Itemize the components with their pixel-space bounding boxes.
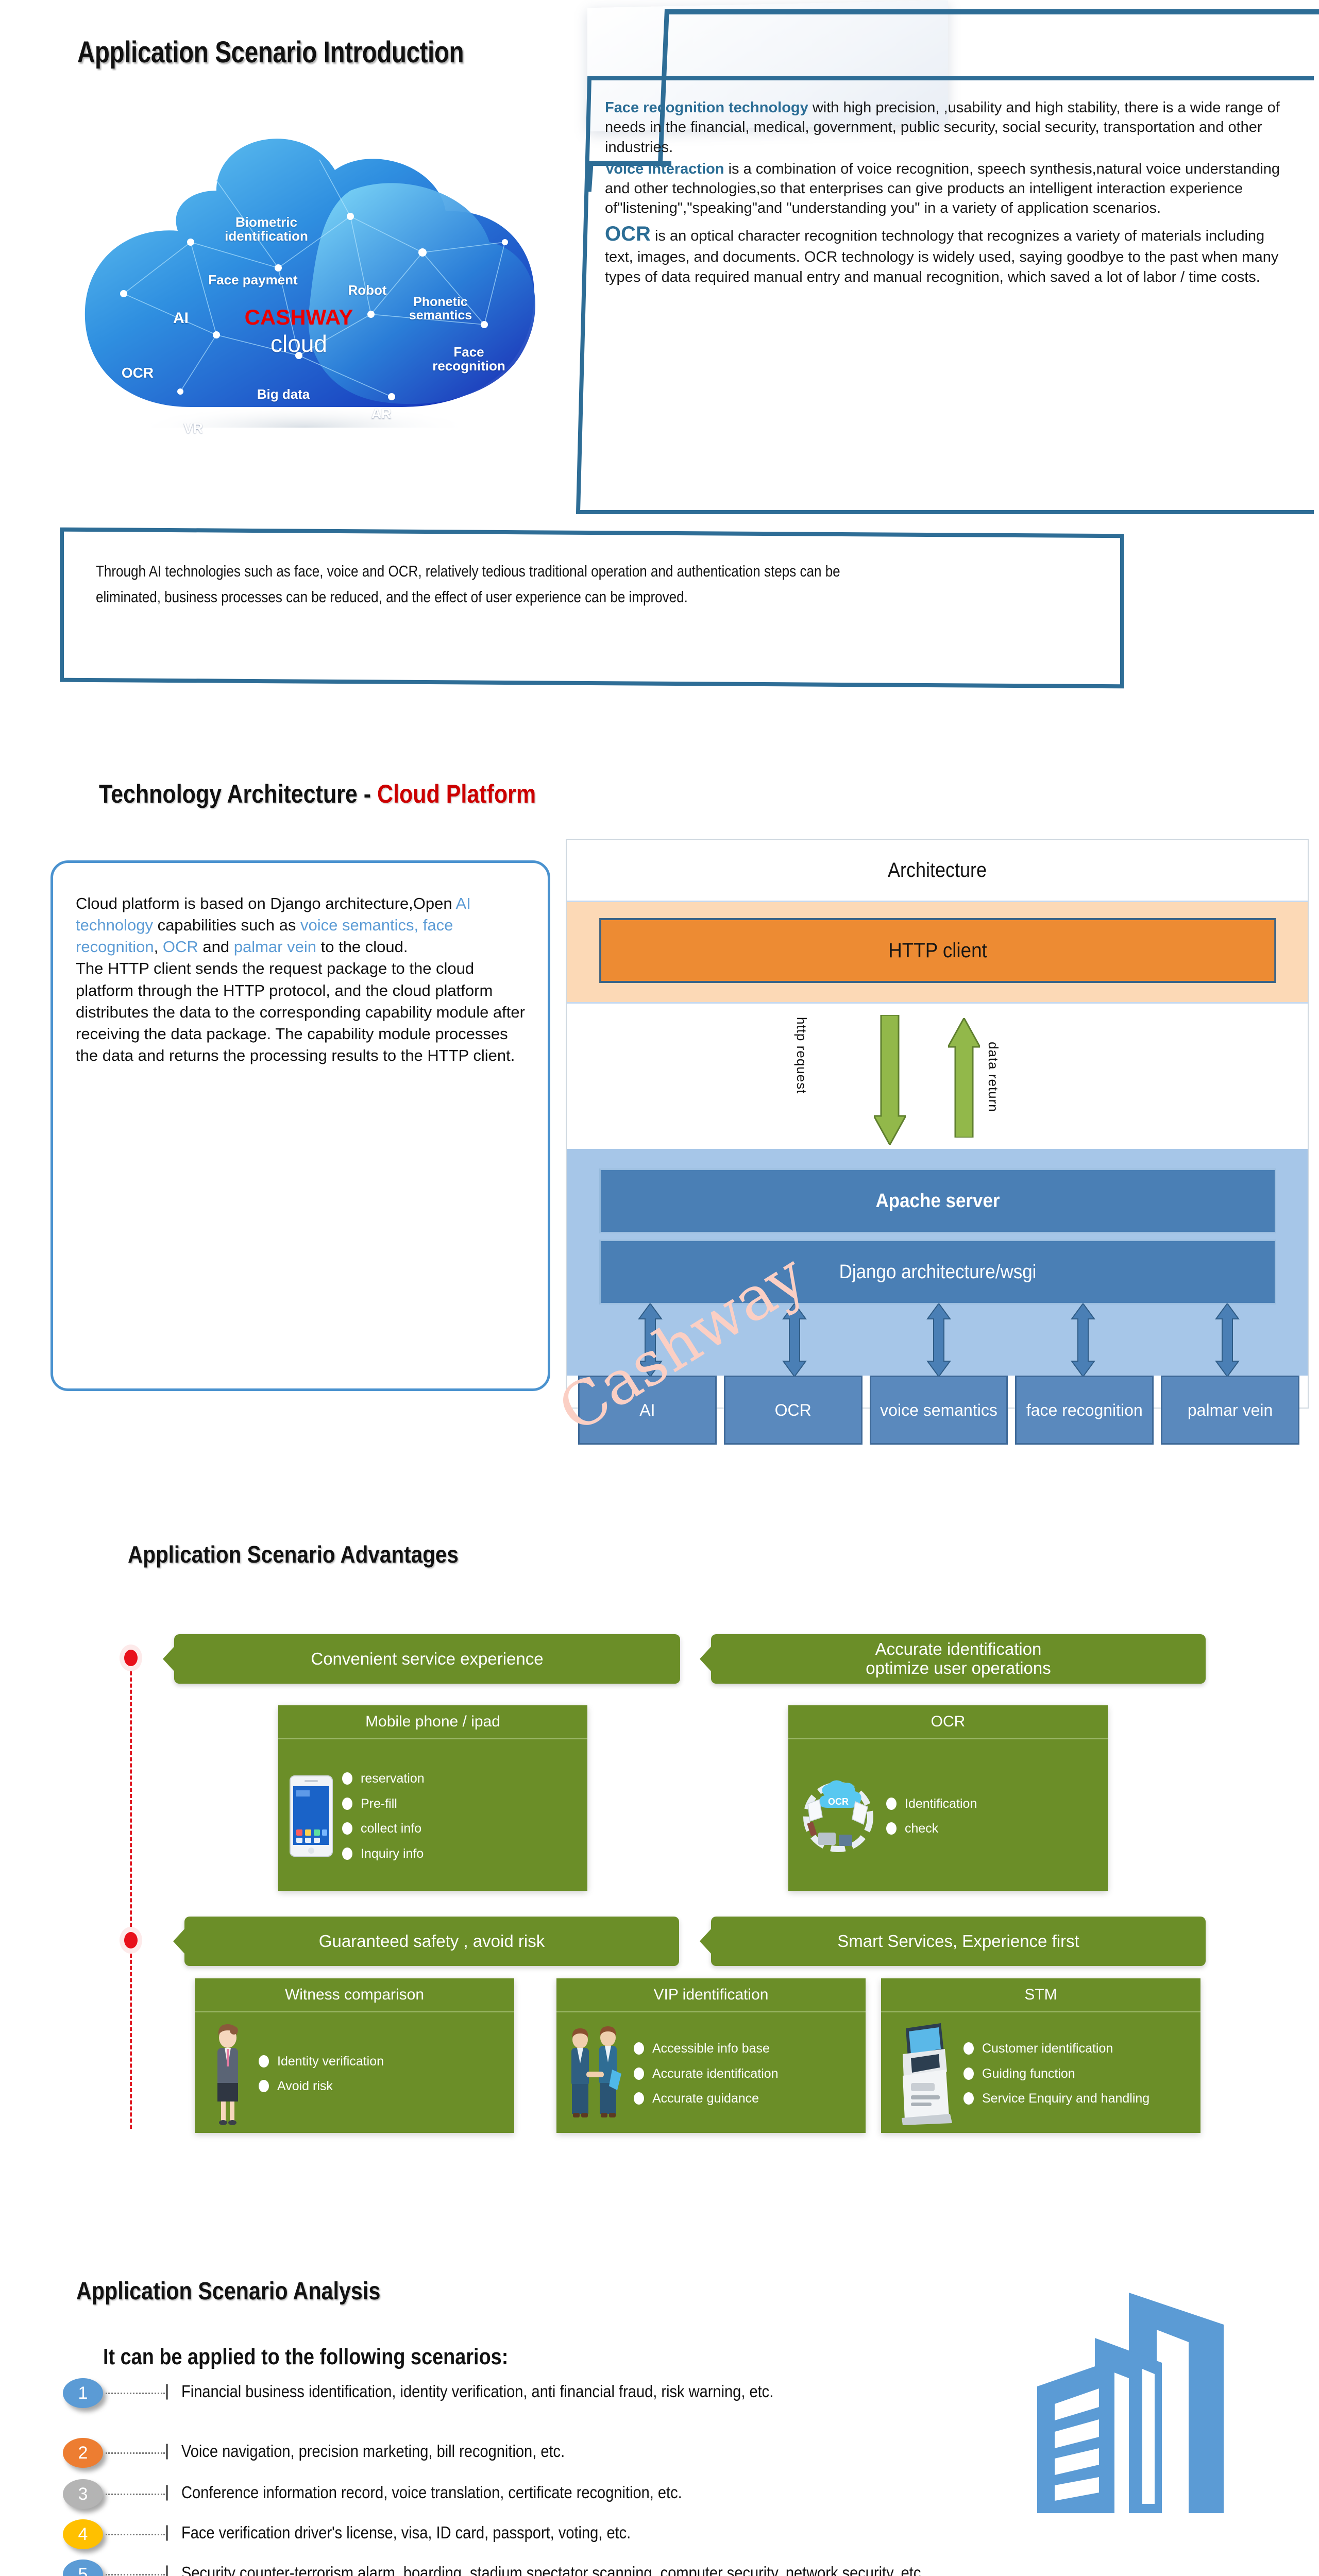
scenario-text-5: Security counter-terrorism alarm, boardi… [181, 2562, 1043, 2576]
timeline-dot-bottom [120, 1927, 142, 1954]
timeline-dot-inner [124, 1932, 138, 1948]
card-heading-vip-identification: VIP identification [556, 1978, 866, 2012]
arch-p1-b: capabilities such as [153, 916, 300, 934]
person-icon [201, 2021, 255, 2127]
arch-p1-a: Cloud platform is based on Django archit… [76, 894, 456, 912]
list-item-label: Guiding function [982, 2066, 1075, 2081]
bi-arrow-slot [1155, 1303, 1299, 1377]
handshake-icon [563, 2021, 630, 2127]
list-item: reservation [342, 1771, 581, 1786]
architecture-description-box: Cloud platform is based on Django archit… [50, 860, 550, 1391]
list-item-label: Pre-fill [361, 1797, 397, 1811]
diagram-apache-server-block: Apache server [599, 1168, 1276, 1233]
list-item: Guiding function [963, 2066, 1194, 2081]
list-item-label: check [905, 1821, 938, 1836]
scenario-text-1: Financial business identification, ident… [181, 2380, 1043, 2403]
intro-text-panel: Face recognition technology with high pr… [576, 76, 1314, 514]
architecture-paragraph-2: The HTTP client sends the request packag… [76, 958, 527, 1066]
analysis-subtitle: It can be applied to the following scena… [103, 2344, 508, 2370]
page-title: Application Scenario Introduction [77, 35, 464, 70]
decorative-line-top [665, 9, 1319, 14]
arch-highlight-ocr: OCR [163, 938, 198, 956]
diagram-label-http-request: http request [793, 1017, 809, 1094]
scenario-bullet-glyph: | [165, 2563, 169, 2576]
scenario-bullet-glyph: | [165, 2381, 169, 2400]
card-list-mobile-phone-ipad: reservation Pre-fill collect info Inquir… [338, 1748, 581, 1885]
advantage-banner-convenient-service: Convenient service experience [174, 1634, 680, 1684]
advantages-title: Application Scenario Advantages [128, 1540, 459, 1568]
cashway-cloud-graphic: Biometric identification Face payment Ro… [62, 88, 556, 428]
list-item-label: collect info [361, 1821, 421, 1836]
list-item: check [886, 1821, 1102, 1836]
analysis-title: Application Scenario Analysis [76, 2277, 380, 2306]
list-item: Pre-fill [342, 1797, 581, 1811]
arch-p1-c: , [154, 938, 163, 956]
bidirectional-arrow-icon [923, 1303, 954, 1377]
list-item-label: Accessible info base [652, 2041, 770, 2056]
bullet-icon [963, 2067, 974, 2080]
intro-head-face-recognition: Face recognition technology [605, 99, 808, 116]
scenario-connector-dash [106, 2574, 165, 2575]
scenario-number-badge: 4 [63, 2519, 103, 2549]
bidirectional-arrow-icon [1212, 1303, 1243, 1377]
intro-summary-callout: Through AI technologies such as face, vo… [56, 531, 1128, 691]
bi-arrow-slot [1011, 1303, 1155, 1377]
stm-kiosk-graphic [887, 2022, 959, 2125]
architecture-paragraph-1: Cloud platform is based on Django archit… [76, 893, 527, 958]
architecture-title: Technology Architecture - Cloud Platform [99, 779, 536, 809]
bullet-icon [342, 1822, 352, 1835]
advantage-card-witness-comparison: Witness comparison Identity [195, 1978, 514, 2133]
intro-body-ocr: is an optical character recognition tech… [605, 228, 1278, 285]
timeline-dot-top [120, 1645, 142, 1671]
card-body: OCR Identification check [788, 1739, 1108, 1891]
card-body: Customer identification Guiding function… [881, 2012, 1200, 2133]
timeline-dashed-line-lower [130, 1954, 132, 2129]
card-list-vip-identification: Accessible info base Accurate identifica… [630, 2021, 859, 2127]
intro-paragraph-ocr: OCR is an optical character recognition … [605, 221, 1295, 287]
bullet-icon [634, 2042, 644, 2055]
card-heading-stm: STM [881, 1978, 1200, 2012]
diagram-module-palmar-vein: palmar vein [1161, 1376, 1299, 1445]
diagram-http-client-block: HTTP client [599, 918, 1276, 983]
application-scenario-analysis-section: Application Scenario Analysis It can be … [0, 2257, 1319, 2576]
intro-head-voice-interaction: Voice interaction [605, 161, 724, 177]
cloud-shape-icon [62, 88, 556, 428]
smartphone-graphic [289, 1775, 333, 1857]
architecture-title-separator: - [358, 779, 377, 808]
diagram-module-ocr: OCR [724, 1376, 863, 1445]
intro-paragraph-face-recognition: Face recognition technology with high pr… [605, 98, 1295, 157]
arch-highlight-voice-semantics: voice semantics, [300, 916, 418, 934]
list-item-label: Identity verification [277, 2054, 384, 2069]
timeline-dashed-line-upper [130, 1671, 132, 1927]
ocr-cloud-graphic: OCR [794, 1775, 882, 1857]
arch-p1-d: and [198, 938, 234, 956]
timeline-dot-inner [124, 1650, 138, 1666]
intro-paragraph-voice-interaction: Voice interaction is a combination of vo… [605, 159, 1295, 218]
diagram-module-voice-semantics: voice semantics [870, 1376, 1008, 1445]
list-item: Accurate guidance [634, 2091, 859, 2106]
arrow-up-icon [948, 1018, 980, 1138]
bullet-icon [342, 1848, 352, 1860]
arrow-down-icon [874, 1015, 906, 1145]
scenario-bullet-glyph: | [165, 2522, 169, 2541]
list-item-label: Accurate identification [652, 2066, 779, 2081]
list-item-label: reservation [361, 1771, 425, 1786]
bullet-icon [342, 1772, 352, 1785]
intro-head-ocr: OCR [605, 223, 651, 245]
scenario-bullet-glyph: | [165, 2482, 169, 2501]
advantage-banner-accurate-identification: Accurate identification optimize user op… [711, 1634, 1206, 1684]
bidirectional-arrow-icon [1068, 1303, 1098, 1377]
list-item: Identity verification [259, 2054, 508, 2069]
diagram-heading: Architecture [604, 840, 1271, 901]
ocr-cloud-icon: OCR [794, 1748, 882, 1885]
architecture-title-highlight: Cloud Platform [377, 779, 536, 808]
list-item: Inquiry info [342, 1846, 581, 1861]
scenario-connector-dash [106, 2534, 165, 2535]
bullet-icon [634, 2092, 644, 2105]
diagram-label-data-return: data return [985, 1042, 1001, 1112]
kiosk-icon [887, 2021, 959, 2127]
list-item: Avoid risk [259, 2079, 508, 2094]
callout-text: Through AI technologies such as face, vo… [96, 558, 901, 610]
scenario-connector-dash [106, 2494, 165, 2495]
scenario-text-3: Conference information record, voice tra… [181, 2481, 1043, 2504]
bullet-icon [259, 2080, 269, 2092]
smartphone-icon [284, 1748, 338, 1885]
scenario-number-badge: 3 [63, 2479, 103, 2509]
card-body: reservation Pre-fill collect info Inquir… [278, 1739, 587, 1891]
diagram-middle-gap [567, 1005, 1308, 1149]
card-heading-ocr: OCR [788, 1705, 1108, 1739]
scenario-connector-dash [106, 2393, 165, 2394]
bullet-icon [886, 1798, 897, 1810]
arch-p1-e: to the cloud. [316, 938, 408, 956]
bullet-icon [963, 2092, 974, 2105]
diagram-module-row: AI OCR voice semantics face recognition … [578, 1376, 1299, 1445]
list-item: Identification [886, 1797, 1102, 1811]
advantage-card-vip-identification: VIP identification [556, 1978, 866, 2133]
list-item-label: Inquiry info [361, 1846, 424, 1861]
two-businessmen-graphic [563, 2022, 630, 2125]
list-item-label: Customer identification [982, 2041, 1113, 2056]
advantage-banner-guaranteed-safety: Guaranteed safety , avoid risk [184, 1917, 679, 1966]
list-item: Accessible info base [634, 2041, 859, 2056]
advantage-card-ocr: OCR OCR Identification chec [788, 1705, 1108, 1891]
arch-highlight-palmar-vein: palmar vein [234, 938, 316, 956]
list-item-label: Service Enquiry and handling [982, 2091, 1149, 2106]
svg-text:OCR: OCR [828, 1797, 849, 1807]
list-item-label: Avoid risk [277, 2079, 333, 2094]
technology-architecture-section: Technology Architecture - Cloud Platform… [0, 742, 1319, 1525]
list-item-label: Identification [905, 1797, 977, 1811]
card-heading-mobile-phone-ipad: Mobile phone / ipad [278, 1705, 587, 1739]
scenario-number-badge: 2 [63, 2438, 103, 2468]
bullet-icon [963, 2042, 974, 2055]
card-body: Accessible info base Accurate identifica… [556, 2012, 866, 2133]
card-heading-witness-comparison: Witness comparison [195, 1978, 514, 2012]
card-list-ocr: Identification check [882, 1748, 1102, 1885]
businesswoman-graphic [207, 2022, 248, 2125]
scenario-bullet-glyph: | [165, 2441, 169, 2460]
card-list-witness-comparison: Identity verification Avoid risk [255, 2021, 508, 2127]
list-item: collect info [342, 1821, 581, 1836]
scenario-text-2: Voice navigation, precision marketing, b… [181, 2440, 1043, 2463]
application-scenario-advantages-section: Application Scenario Advantages Convenie… [0, 1525, 1319, 2257]
list-item: Customer identification [963, 2041, 1194, 2056]
card-list-stm: Customer identification Guiding function… [959, 2021, 1194, 2127]
advantage-card-stm: STM Customer identification Guiding func… [881, 1978, 1200, 2133]
scenario-number-badge: 1 [63, 2378, 103, 2408]
list-item: Accurate identification [634, 2066, 859, 2081]
bullet-icon [342, 1798, 352, 1810]
advantage-card-mobile-phone-ipad: Mobile phone / ipad reservation [278, 1705, 587, 1891]
bullet-icon [886, 1822, 897, 1835]
list-item: Service Enquiry and handling [963, 2091, 1194, 2106]
bi-arrow-slot [867, 1303, 1011, 1377]
bullet-icon [259, 2055, 269, 2067]
application-scenario-introduction-section: Application Scenario Introduction [0, 0, 1319, 732]
architecture-title-main: Technology Architecture [99, 779, 358, 808]
diagram-module-face-recognition: face recognition [1015, 1376, 1154, 1445]
scenario-connector-dash [106, 2452, 165, 2454]
list-item-label: Accurate guidance [652, 2091, 759, 2106]
advantage-banner-smart-services: Smart Services, Experience first [711, 1917, 1206, 1966]
card-body: Identity verification Avoid risk [195, 2012, 514, 2133]
bullet-icon [634, 2067, 644, 2080]
scenario-number-badge: 5 [63, 2560, 103, 2576]
scenario-text-4: Face verification driver's license, visa… [181, 2521, 1043, 2544]
